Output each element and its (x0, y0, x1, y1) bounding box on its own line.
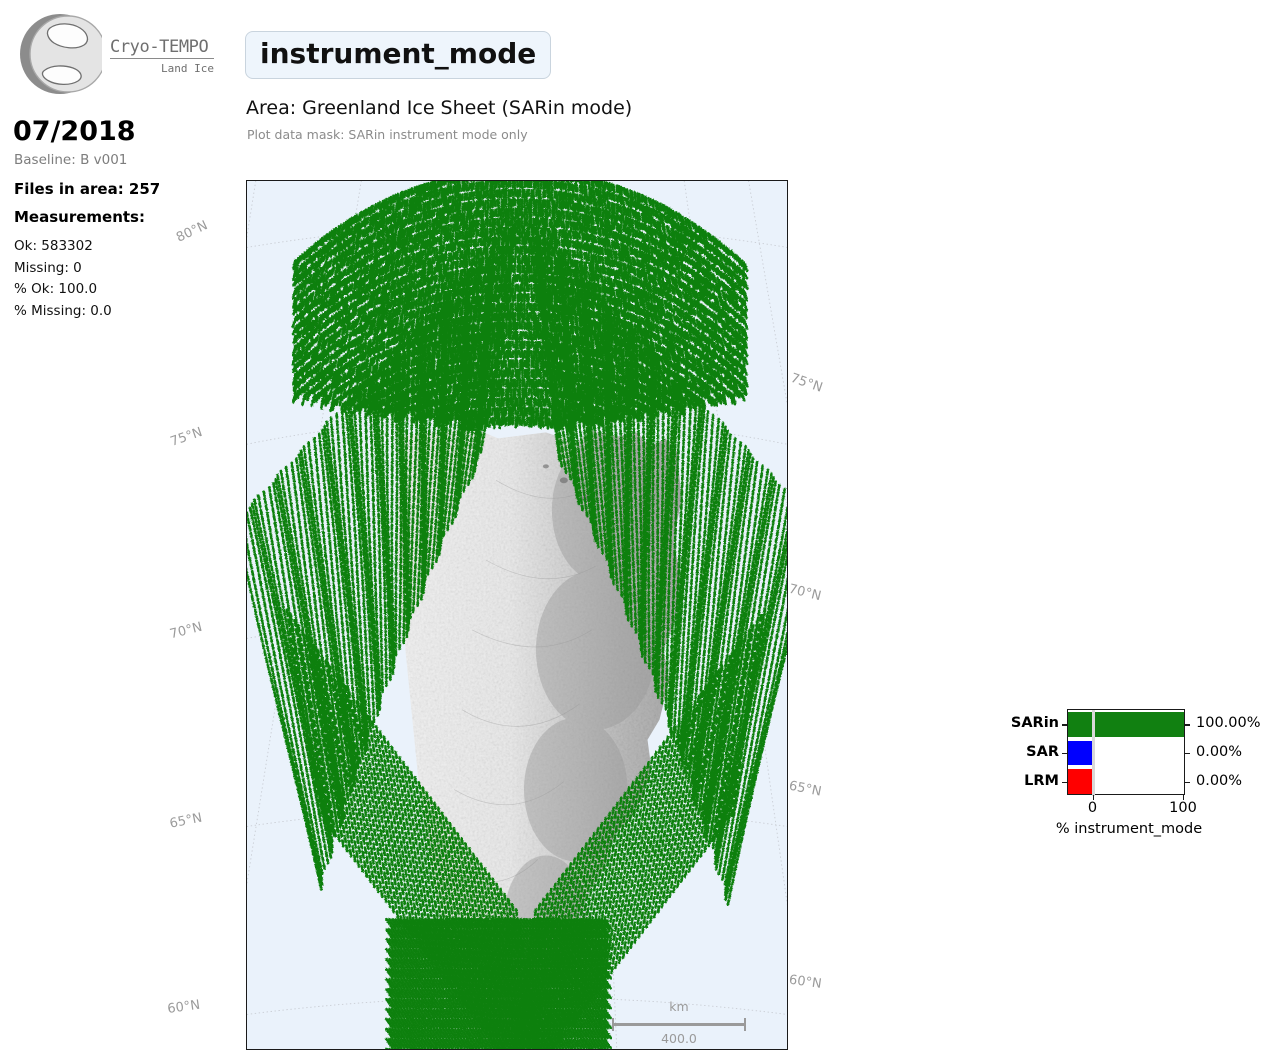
bar-chart-x-axis: 0100 (1067, 795, 1185, 817)
bar-chart-category-label: SARin (1011, 715, 1059, 731)
measurements-heading: Measurements: (14, 208, 145, 226)
bar-chart-color-swatch (1068, 741, 1092, 766)
map-scalebar: km 400.0 (612, 1000, 746, 1047)
latitude-label: 60°N (788, 973, 823, 992)
files-in-area-label: Files in area: 257 (14, 180, 160, 198)
bar-chart-tick-right (1184, 753, 1190, 754)
globe-icon (18, 12, 102, 96)
bar-chart-x-tick-label: 0 (1088, 800, 1097, 816)
brand-logo: Cryo-TEMPO Land Ice (12, 8, 212, 96)
bar-chart-tick-left (1062, 724, 1068, 725)
scalebar-value: 400.0 (612, 1031, 746, 1047)
bar-chart-color-swatch (1068, 769, 1092, 794)
bar-chart-plot-area: SARin100.00%SAR0.00%LRM0.00% (1067, 709, 1185, 795)
bar-chart-tick-right (1184, 724, 1190, 725)
bar-chart-row: SAR0.00% (1068, 739, 1184, 768)
bar-chart-row: SARin100.00% (1068, 710, 1184, 739)
brand-name: Cryo-TEMPO (110, 38, 214, 57)
stat-percent-missing: % Missing: 0.0 (14, 301, 112, 323)
app-root: Cryo-TEMPO Land Ice 07/2018 Baseline: B … (0, 0, 1272, 1060)
variable-badge[interactable]: instrument_mode (245, 31, 551, 79)
stat-missing: Missing: 0 (14, 258, 112, 280)
measurements-stats: Ok: 583302 Missing: 0 % Ok: 100.0 % Miss… (14, 236, 112, 322)
sidebar: Cryo-TEMPO Land Ice 07/2018 Baseline: B … (0, 0, 235, 1060)
mask-subtitle: Plot data mask: SARin instrument mode on… (247, 127, 528, 142)
bar-chart-tick-right (1184, 782, 1190, 783)
bar-chart-category-label: LRM (1024, 773, 1059, 789)
brand-subtitle: Land Ice (110, 61, 214, 77)
bar-chart-row: LRM0.00% (1068, 767, 1184, 796)
bar-chart-value-label: 0.00% (1196, 744, 1242, 760)
scalebar-line (612, 1018, 746, 1030)
brand-wordmark: Cryo-TEMPO Land Ice (110, 38, 214, 77)
bar-chart-tick-left (1062, 753, 1068, 754)
bar-chart-value-label: 100.00% (1196, 715, 1261, 731)
area-title: Area: Greenland Ice Sheet (SARin mode) (246, 97, 632, 119)
bar-chart-color-swatch (1068, 712, 1092, 737)
bar-chart-tick-left (1062, 782, 1068, 783)
bar-chart-zero-divider (1092, 739, 1095, 768)
latitude-label: 70°N (787, 582, 822, 604)
date-label: 07/2018 (13, 116, 136, 147)
instrument-mode-bar-chart[interactable]: SARin100.00%SAR0.00%LRM0.00% 0100 % inst… (1000, 700, 1272, 850)
latitude-label: 65°N (788, 779, 823, 800)
brand-divider (110, 58, 214, 59)
scalebar-tick-left (612, 1018, 614, 1031)
scalebar-bar (612, 1023, 746, 1026)
map-canvas (247, 181, 787, 1049)
stat-percent-ok: % Ok: 100.0 (14, 279, 112, 301)
bar-chart-x-label: % instrument_mode (1000, 821, 1258, 837)
scalebar-unit: km (612, 1000, 746, 1014)
map-panel[interactable] (246, 180, 788, 1050)
bar-chart-x-tick-label: 100 (1169, 800, 1197, 816)
bar-chart-bar (1095, 712, 1184, 737)
baseline-label: Baseline: B v001 (14, 152, 127, 168)
scalebar-tick-right (744, 1018, 746, 1031)
bar-chart-value-label: 0.00% (1196, 773, 1242, 789)
stat-ok: Ok: 583302 (14, 236, 112, 258)
latitude-label: 75°N (789, 371, 825, 396)
bar-chart-zero-divider (1092, 767, 1095, 796)
bar-chart-category-label: SAR (1026, 744, 1059, 760)
